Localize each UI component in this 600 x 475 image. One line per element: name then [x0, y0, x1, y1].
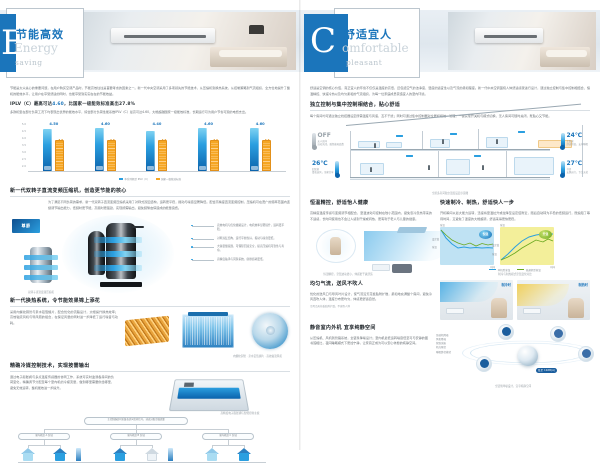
- storage-furniture-icon: [514, 157, 554, 175]
- orbit-node-casing: [476, 356, 492, 372]
- quiet-orbit-diagram: 压缩机降噪 风机降噪 管路减振 机壳隔音 睡眠静音模式: [436, 324, 590, 388]
- right-section-title-3: 快速制冷、制热，舒适快人一步: [440, 199, 590, 208]
- comfort-illustration: 恒温精控，室温波动更小，体感更干爽舒适: [310, 225, 432, 275]
- bar-ref-label: 3.6: [54, 138, 67, 142]
- lead-prefix: IPLV（C）最高可达: [10, 102, 52, 107]
- cushion-photo: [546, 50, 587, 57]
- legend-item-series2: 国家一级能效标准: [156, 177, 182, 181]
- right-body: 舒适是空调的核心价值，真正宜人的环境不仅仅是温度的高低，还包括空气的洁净度、湿度…: [300, 86, 600, 388]
- ac-unit-icon: [396, 135, 403, 137]
- temperature-line-charts: 室温 设定值 室温 时间 恒温 室温: [440, 227, 590, 265]
- heating-chart-annotation: 升温: [539, 230, 552, 239]
- compressor-small-caption: 双转子直流变频压缩机: [16, 290, 66, 294]
- floor-line-lower: [350, 177, 550, 180]
- bar-series2: 3.6: [55, 140, 64, 171]
- axial-fan-image: [237, 310, 290, 354]
- room-note: 自动关闭，避免能耗浪费: [318, 143, 344, 146]
- comfort-caption: 恒温精控，室温波动更小，体感更干爽舒适: [318, 272, 378, 276]
- legend-item-series1: 本系列机型 IPLV（C）: [119, 177, 150, 181]
- flow-root-node: 主控制器实时采集各房间负荷信号，动态分配冷媒流量: [84, 417, 188, 425]
- room-temp-value: 24℃: [566, 133, 588, 139]
- bar-value-label: 4.60: [191, 122, 227, 126]
- bar-group: 4.60 3.6: [87, 123, 123, 171]
- legend-label: 国家一级能效标准: [161, 177, 181, 181]
- room-status-27: 27℃ 书房 安静运行，专注无扰: [561, 161, 588, 176]
- right-header: C 舒适宜人 omfortable pleasant: [300, 0, 600, 86]
- legend-label: 本机型室温: [498, 268, 511, 272]
- brochure-spread: E 节能高效 Energy saving 节能是大众关心的重要问题，在用户购买空…: [0, 0, 600, 450]
- copper-tube-image: [123, 310, 176, 354]
- compressor-figure: 尊爵 双转子直流变频压缩机: [10, 215, 290, 293]
- legend-swatch-blue: [119, 178, 123, 181]
- right-section-body-5: 从压缩机、风机到管路系统，全链条降噪设计；室内机最低运转噪音低至可与安静的图书馆…: [310, 336, 428, 347]
- legend-label: 本系列机型 IPLV（C）: [124, 177, 149, 181]
- left-section-title-1: 新一代双转子直流变频压缩机，创造更节能的核心: [10, 187, 290, 197]
- lead-suffix: ，比国家一级能效标准高出27.8%: [64, 102, 135, 107]
- room-note: 柔和送风，全家共享: [312, 171, 334, 174]
- right-header-photo: [448, 12, 596, 70]
- floor-line-upper: [350, 149, 550, 151]
- right-header-title: 舒适宜人: [344, 26, 392, 42]
- bar-ref-label: 3.6: [261, 138, 274, 142]
- flow-branch-node: 室内机组 A 区域: [18, 433, 70, 440]
- air-vent-photo: [484, 35, 537, 38]
- cooling-line-chart: 室温 设定值 室温 时间 恒温: [440, 227, 494, 265]
- right-intro-paragraph: 舒适是空调的核心价值，真正宜人的环境不仅仅是温度的高低，还包括空气的洁净度、湿度…: [310, 86, 590, 97]
- bar-series2: 3.6: [210, 140, 219, 171]
- air-vent-photo: [124, 35, 205, 38]
- compressor-small-image: [24, 243, 58, 287]
- chart-ytick: 室温: [492, 252, 497, 256]
- bar-group: 4.40 3.6: [139, 123, 175, 171]
- bar-series1: [198, 128, 207, 171]
- control-board-image: [169, 379, 249, 411]
- thermometer-icon: [335, 161, 339, 176]
- heating-line-chart: 室温 设定值 室温 时间 升温: [500, 227, 554, 265]
- bar-group: 4.60 3.6: [242, 123, 278, 171]
- bar-series1: [95, 128, 104, 171]
- left-section-title-3: 精确冷媒控制技术，实现按需输出: [10, 362, 290, 372]
- chart-ytick: 设定值: [432, 237, 439, 241]
- cabinet-furniture-icon: [446, 159, 470, 175]
- page-gutter: [299, 0, 301, 450]
- legend-label: 普通机型室温: [526, 268, 541, 272]
- room-temp-value: 26℃: [312, 161, 334, 167]
- decibel-badge: 低至 19dB(A): [536, 368, 557, 374]
- bar-series2: 3.6: [107, 140, 116, 171]
- control-board-figure: 高精度电子膨胀阀与智能控制主板: [119, 375, 290, 415]
- bedding-photo: [219, 50, 282, 57]
- bar-series1: [43, 129, 52, 171]
- left-section-body-2: 采用内螺纹铜管与亲水铝箔翅片，配合优化的流路设计，大幅提升换热效率；高效轴流风机…: [10, 310, 118, 327]
- bar-chart-y-axis: 5.0 4.5 4.0 3.5 3.0 2.5 2.0: [12, 124, 26, 168]
- thermometer-icon: [561, 133, 565, 148]
- bar-series1: [146, 131, 155, 171]
- bar-value-label: 4.40: [139, 122, 175, 126]
- ac-unit-icon: [474, 155, 481, 157]
- right-header-en-title: omfortable: [342, 41, 409, 55]
- ac-unit-icon: [518, 131, 525, 133]
- chart-xlabel: 时间: [490, 265, 495, 269]
- refrigerant-flow-diagram: 主控制器实时采集各房间负荷信号，动态分配冷媒流量 室内机组 A 区域 室内机组 …: [10, 417, 290, 475]
- bar-ref-label: 3.6: [157, 138, 170, 142]
- y-tick: 2.5: [22, 159, 26, 162]
- legend-line-blue: [489, 269, 496, 270]
- left-page: E 节能高效 Energy saving 节能是大众关心的重要问题，在用户购买空…: [0, 0, 300, 450]
- quiet-orbit: 低至 19dB(A): [436, 326, 590, 388]
- globe-icon: [518, 346, 538, 366]
- y-tick: 3.0: [22, 152, 26, 155]
- compressor-callout: 高精度轴承与润滑系统，摩擦损耗更低。: [214, 257, 288, 261]
- airflow-subcaption-1: 冷风沿天花板贴附扩散，不直吹人体: [310, 304, 432, 308]
- lead-value: 4.60: [52, 102, 64, 107]
- cooling-airflow-tag: 制冷时: [501, 282, 511, 287]
- left-chart-note: 多款机型在部分负荷工况下均表现出优异的能效水平，综合部分负荷性能系数IPLV（C…: [10, 110, 290, 116]
- y-tick: 4.5: [22, 131, 26, 134]
- compressor-callout: 对称双缸结构，运行平衡性好，振动与噪音更低。: [214, 236, 288, 240]
- right-section-title-4: 均匀气流，送风不吹人: [310, 280, 432, 289]
- hx-caption: 内螺纹铜管 · 亲水铝箔翅片 · 高效轴流风机: [10, 354, 290, 358]
- compressor-callout: 高效电机与优化磁路设计，电机效率显著提升，运转更平稳。: [214, 223, 288, 232]
- y-tick: 5.0: [22, 124, 26, 127]
- room-status-26: 26℃ 起居室 柔和送风，全家共享: [312, 161, 339, 176]
- bar-chart-plot-area: 4.50 3.6 4.60 3.6 4.40: [28, 124, 286, 172]
- room-status-24: 24℃ 主卧室 舒适恒温，安享睡眠: [561, 133, 588, 148]
- bar-chart-legend: 本系列机型 IPLV（C） 国家一级能效标准: [10, 177, 290, 181]
- bar-value-label: 4.60: [87, 122, 123, 126]
- left-lead-line: IPLV（C）最高可达4.60，比国家一级能效标准高出27.8%: [10, 101, 290, 107]
- left-section-body-1: 为了满足不同负荷的需求，新一代双转子直流变频压缩机采用了对称式双缸结构，运转更平…: [48, 200, 290, 211]
- bar-series1: [250, 128, 259, 171]
- legend-item-line2: 普通机型室温: [517, 268, 541, 272]
- ac-unit-icon: [450, 133, 457, 135]
- bar-ref-label: 3.6: [106, 138, 119, 142]
- room-temp-value: OFF: [318, 133, 344, 139]
- left-intro-paragraph: 节能是大众关心的重要问题，在用户购买空调产品时，节能高效往往是首要考虑的因素之一…: [10, 86, 290, 97]
- airflow-images: 制冷时 制热时: [440, 280, 590, 320]
- house-diagram-caption: 全屋多房间独立温度设定示意图: [310, 191, 590, 195]
- ac-unit-icon: [406, 155, 413, 157]
- flow-branch-node: 室内机组 B 区域: [110, 433, 162, 440]
- bar-ref-label: 3.6: [209, 138, 222, 142]
- y-tick: 3.5: [22, 145, 26, 148]
- airflow-text-block: 均匀气流，送风不吹人 优化的送风口与导风叶片设计，使气流沿天花板贴附扩散，柔和地…: [310, 280, 432, 320]
- bar-group: 4.50 3.6: [36, 123, 72, 171]
- orbit-node-compressor: [498, 324, 514, 340]
- chart-ytick: 室温: [432, 245, 437, 249]
- flow-branch-node: 室内机组 C 区域: [202, 433, 254, 440]
- left-section-title-2: 新一代换热系统，令节能效果锦上添花: [10, 297, 290, 307]
- iplv-bar-chart: 5.0 4.5 4.0 3.5 3.0 2.5 2.0 4.50 3.6: [10, 120, 290, 174]
- left-header-photo: [70, 12, 296, 70]
- heat-exchanger-coil-image: [180, 310, 233, 354]
- cooling-chart-annotation: 恒温: [479, 230, 492, 239]
- line-chart-caption: 制冷与制热模式室温变化对比: [440, 272, 590, 276]
- left-header-en-title: Energy: [14, 41, 58, 55]
- thermometer-icon: [561, 161, 565, 176]
- compressor-callouts: 高效电机与优化磁路设计，电机效率显著提升，运转更平稳。 对称双缸结构，运行平衡性…: [214, 223, 288, 266]
- left-body: 节能是大众关心的重要问题，在用户购买空调产品时，节能高效往往是首要考虑的因素之一…: [0, 86, 300, 475]
- compressor-badge: 尊爵: [12, 219, 40, 233]
- chart-ytick: 设定值: [492, 243, 499, 247]
- bar-series2: 3.6: [158, 140, 167, 171]
- lamp-photo: [249, 25, 265, 34]
- right-header-initial: C: [310, 24, 336, 58]
- legend-line-green: [517, 269, 524, 270]
- quiet-text-block: 静音室内外机 宜享纯静空间 从压缩机、风机到管路系统，全链条降噪设计；室内机最低…: [310, 324, 428, 388]
- heating-airflow-tag: 制热时: [578, 282, 588, 287]
- right-header-en-sub: pleasant: [346, 58, 382, 67]
- bar-series2: 3.6: [262, 140, 271, 171]
- bar-value-label: 4.50: [36, 122, 72, 126]
- right-section-title-5: 静音室内外机 宜享纯静空间: [310, 324, 428, 333]
- y-tick: 4.0: [22, 138, 26, 141]
- bar-group: 4.60 3.6: [191, 123, 227, 171]
- right-section-body-4: 优化的送风口与导风叶片设计，使气流沿天花板贴附扩散，柔和地充满整个房间，避免冷风…: [310, 292, 432, 303]
- left-header-title: 节能高效: [16, 26, 64, 42]
- room-status-off: OFF 无人房间 自动关闭，避免能耗浪费: [312, 133, 344, 148]
- right-section-body-2: 高精度温度传感与变频调节相配合，室温波动可控制在较小范围内，避免忽冷忽热带来的不…: [310, 211, 432, 222]
- compressor-callout: 大容量储液器，可保障回液安全，提高压缩机可靠性与寿命。: [214, 244, 288, 253]
- y-tick: 2.0: [22, 166, 26, 169]
- thermometer-icon: [312, 133, 316, 148]
- bed-furniture-icon: [358, 141, 380, 148]
- desk-furniture-icon: [430, 139, 450, 148]
- cooling-airflow-image: 制冷时: [440, 280, 513, 320]
- room-note: 舒适恒温，安享睡眠: [566, 143, 588, 146]
- comfort-block: 恒温精控，舒适怡人健康 高精度温度传感与变频调节相配合，室温波动可控制在较小范围…: [310, 199, 432, 275]
- compressor-large-image: [86, 221, 148, 287]
- right-page: C 舒适宜人 omfortable pleasant 舒适是空调的核心价值，真正…: [300, 0, 600, 450]
- left-section-body-3: 通过电子膨胀阀与多点温度传感器的协同工作，系统可实时监测各房间的负荷变化，精确调…: [10, 375, 114, 392]
- room-temp-value: 27℃: [566, 161, 588, 167]
- legend-swatch-orange: [156, 178, 160, 181]
- room-note: 安静运行，专注无扰: [566, 171, 588, 174]
- orbit-node-pipe: [578, 346, 594, 362]
- pcb-caption: 高精度电子膨胀阀与智能控制主板: [194, 411, 286, 415]
- chart-xlabel: 时间: [550, 265, 555, 269]
- right-section-title-2: 恒温精控，舒适怡人健康: [310, 199, 432, 208]
- left-header: E 节能高效 Energy saving: [0, 0, 300, 86]
- orbit-node-fan: [550, 326, 566, 342]
- table-furniture-icon: [386, 142, 402, 148]
- left-header-en-sub: saving: [15, 58, 43, 67]
- house-section-diagram: OFF 无人房间 自动关闭，避免能耗浪费 24℃ 主卧室 舒适恒温，安享睡眠: [310, 123, 590, 191]
- speed-block: 快速制冷、制热，舒适快人一步 开机瞬间以最大能力运转，迅速将室温拉升或拉降至设定…: [440, 199, 590, 275]
- right-section-body-3: 开机瞬间以最大能力运转，迅速将室温拉升或拉降至设定值附近，随后自动转为平稳的低频…: [440, 211, 590, 222]
- bar-value-label: 4.60: [242, 122, 278, 126]
- heating-airflow-image: 制热时: [517, 280, 590, 320]
